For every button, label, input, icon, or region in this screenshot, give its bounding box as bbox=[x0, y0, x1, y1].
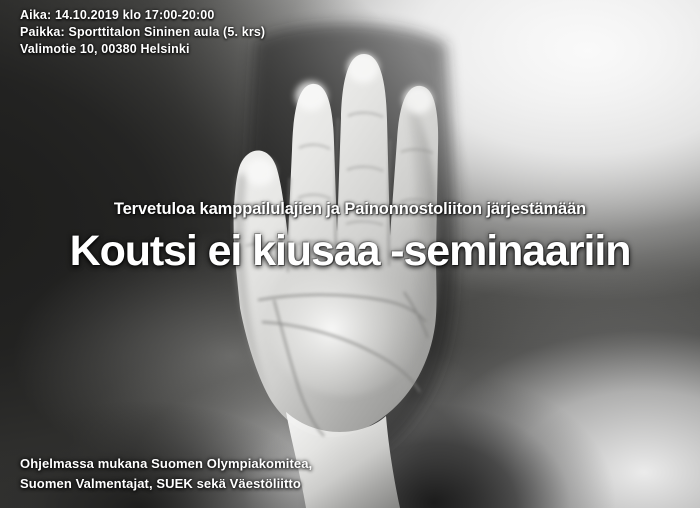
event-time-line: Aika: 14.10.2019 klo 17:00-20:00 bbox=[20, 7, 265, 24]
headline-subtitle: Tervetuloa kamppailulajien ja Painonnost… bbox=[0, 198, 700, 220]
headline-title: Koutsi ei kiusaa -seminaariin bbox=[0, 226, 700, 276]
partners-footer: Ohjelmassa mukana Suomen Olympiakomitea,… bbox=[20, 454, 312, 494]
event-info: Aika: 14.10.2019 klo 17:00-20:00 Paikka:… bbox=[20, 7, 265, 58]
headline: Tervetuloa kamppailulajien ja Painonnost… bbox=[0, 198, 700, 276]
seminar-poster: Aika: 14.10.2019 klo 17:00-20:00 Paikka:… bbox=[0, 0, 700, 508]
event-address-line: Valimotie 10, 00380 Helsinki bbox=[20, 41, 265, 58]
event-place-line: Paikka: Sporttitalon Sininen aula (5. kr… bbox=[20, 24, 265, 41]
partners-line-1: Ohjelmassa mukana Suomen Olympiakomitea, bbox=[20, 454, 312, 474]
partners-line-2: Suomen Valmentajat, SUEK sekä Väestöliit… bbox=[20, 474, 312, 494]
